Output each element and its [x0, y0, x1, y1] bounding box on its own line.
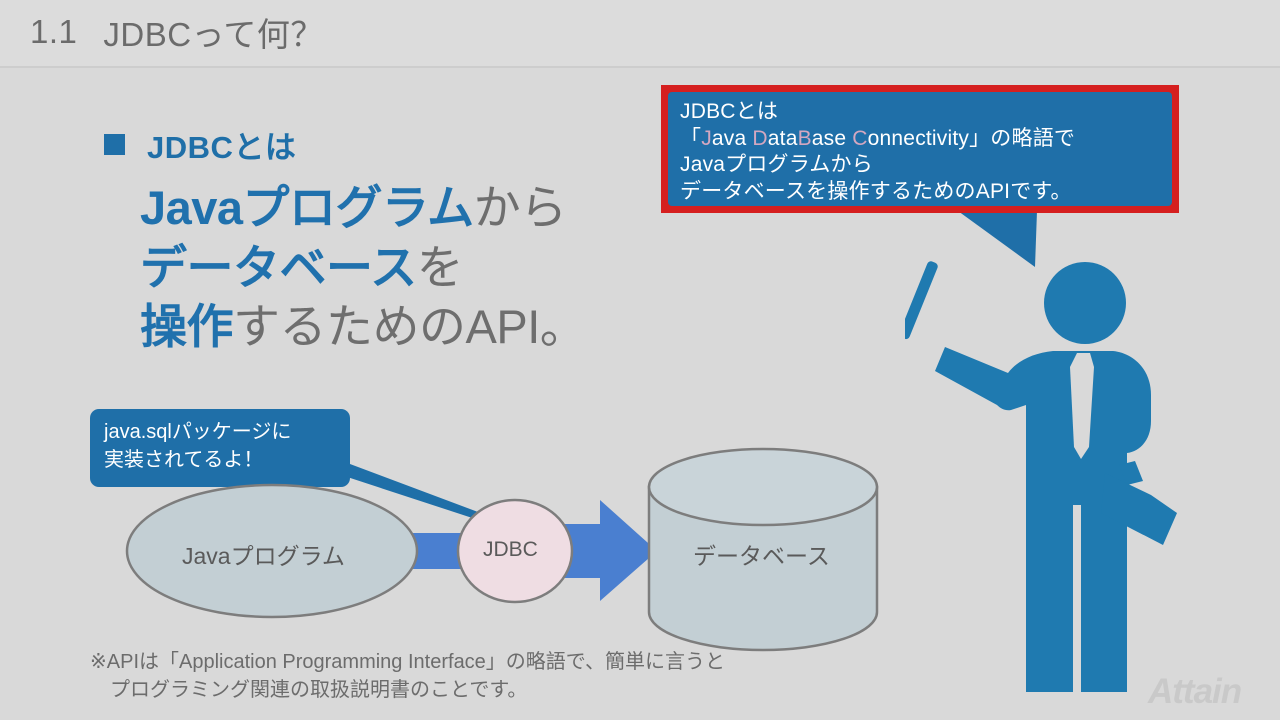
header-inner: 1.1 JDBCって何？ — [30, 8, 324, 56]
red-callout-inner: JDBCとは「Java DataBase Connectivity」の略語でJa… — [668, 92, 1172, 206]
cylinder-label: データベース — [693, 537, 830, 571]
big-statement-line-2: データベースを — [140, 238, 700, 298]
footnote: ※APIは「Application Programming Interface」… — [90, 648, 725, 705]
big-statement-hl-2: データベース — [140, 241, 417, 294]
big-statement-pl-1: から — [474, 181, 567, 234]
big-statement-line-3: 操作するためのAPI。 — [140, 297, 700, 357]
section-number: 1.1 — [30, 13, 77, 51]
page-title: JDBCって何？ — [103, 8, 324, 56]
logo-text: Attain — [1148, 672, 1241, 712]
heading-bullet-row: JDBCとは — [104, 122, 296, 167]
attain-logo: Attain — [1148, 672, 1272, 712]
sql-callout-text: java.sqlパッケージに 実装されてるよ！ — [104, 418, 291, 475]
red-callout-box: JDBCとは「Java DataBase Connectivity」の略語でJa… — [661, 85, 1179, 213]
slide-header: 1.1 JDBCって何？ — [0, 0, 1280, 68]
slide-canvas: 1.1 JDBCって何？ JDBCとは Javaプログラムから データベースを … — [0, 0, 1280, 720]
ellipse-label: Javaプログラム — [182, 537, 345, 571]
heading-label: JDBCとは — [147, 122, 296, 167]
big-statement-pl-2: を — [417, 241, 464, 294]
big-statement-hl-1: Javaプログラム — [140, 181, 474, 234]
big-statement-pl-3: するためのAPI。 — [233, 300, 586, 353]
big-statement: Javaプログラムから データベースを 操作するためのAPI。 — [140, 178, 700, 357]
presenter-person-icon — [905, 255, 1195, 715]
red-callout-text: JDBCとは「Java DataBase Connectivity」の略語でJa… — [680, 99, 1162, 206]
square-bullet-icon — [104, 134, 125, 155]
sql-callout-box: java.sqlパッケージに 実装されてるよ！ — [90, 409, 350, 487]
flow-arrow-icon — [548, 500, 657, 601]
circle-label: JDBC — [483, 538, 538, 562]
big-statement-line-1: Javaプログラムから — [140, 178, 700, 238]
big-statement-hl-3: 操作 — [140, 300, 233, 353]
